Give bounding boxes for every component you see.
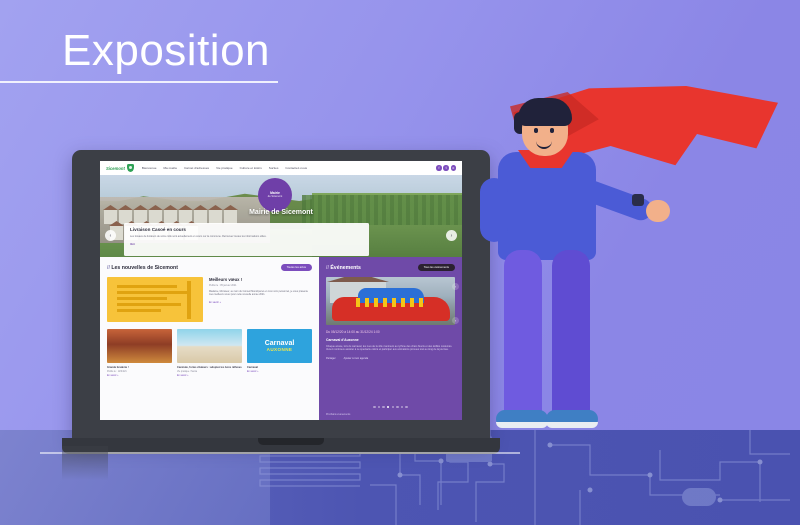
- carousel-dot[interactable]: [373, 406, 375, 408]
- nav-item-bienvenue[interactable]: Bienvenue: [142, 166, 157, 170]
- chevron-right-icon[interactable]: ›: [446, 230, 457, 241]
- laptop-lid: Sicemont Bienvenue Ma mairie Carnet d'ad…: [72, 150, 490, 442]
- hero-heading: Mairie de Sicemont: [100, 209, 462, 216]
- laptop-mockup: Sicemont Bienvenue Ma mairie Carnet d'ad…: [72, 150, 490, 446]
- events-section: // Événements Tous les événements Du 05/…: [319, 257, 462, 420]
- chevron-up-icon[interactable]: ‹: [452, 283, 459, 290]
- hero-card-title: Livraison Casoé en cours: [130, 227, 363, 232]
- list-item[interactable]: Carnaval AUXONNE Carnaval En savoir +: [247, 329, 312, 377]
- event-agenda-link[interactable]: Ajouter à mon agenda: [344, 357, 369, 360]
- all-news-button[interactable]: Toutes les actus: [281, 264, 312, 271]
- news-section-title: // Les nouvelles de Sicemont: [107, 265, 178, 271]
- right-eye: [550, 128, 554, 133]
- news-card-title: Canicule, fortes chaleurs : adoptez les …: [177, 366, 242, 369]
- carnaval-auxonne-poster: Carnaval AUXONNE: [247, 329, 312, 363]
- hero-card-link[interactable]: Voir: [130, 243, 363, 246]
- events-section-title-text: Événements: [330, 265, 361, 271]
- nav-item-ma-mairie[interactable]: Ma mairie: [163, 166, 177, 170]
- right-leg: [552, 250, 590, 418]
- superhero-illustration: [470, 78, 790, 458]
- carousel-dots: [319, 406, 462, 408]
- featured-news-meta: Publié le : 05 janvier 2021: [209, 284, 312, 287]
- left-shoe: [496, 410, 548, 428]
- social-links: f t o: [436, 165, 456, 170]
- plage-photo: [177, 329, 242, 363]
- news-card-list: Grande braderie ! Publié le : 12/04/21 E…: [107, 329, 312, 377]
- featured-news-item[interactable]: Meilleurs vœux ! Publié le : 05 janvier …: [107, 277, 312, 322]
- carousel-dot[interactable]: [396, 406, 398, 408]
- news-card-title: Grande braderie !: [107, 366, 172, 369]
- events-footer-note: Prochains événements: [326, 413, 350, 416]
- facebook-icon[interactable]: f: [436, 165, 441, 170]
- laptop-reflection: [62, 446, 108, 480]
- news-section-header: // Les nouvelles de Sicemont Toutes les …: [107, 264, 312, 271]
- event-links: Partager Ajouter à mon agenda: [326, 357, 455, 360]
- events-section-header: // Événements Tous les événements: [326, 264, 455, 271]
- wristwatch: [632, 194, 644, 206]
- news-card-meta: Vie pratique / Santé: [177, 371, 242, 373]
- events-section-prefix: //: [326, 265, 329, 271]
- carousel-dot[interactable]: [392, 406, 394, 408]
- legs: [504, 250, 592, 432]
- news-section-prefix: //: [107, 265, 110, 271]
- site-header: Sicemont Bienvenue Ma mairie Carnet d'ad…: [100, 161, 462, 175]
- news-card-link[interactable]: En savoir +: [177, 375, 242, 377]
- featured-news-text: Meilleurs vœux ! Publié le : 05 janvier …: [209, 277, 312, 322]
- carnaval-title-text: Carnaval: [265, 340, 295, 347]
- event-date: Du 05/12/20 à 14:00 au 31/12/24 1:00: [326, 330, 455, 334]
- laptop-notch: [258, 438, 324, 445]
- dragon-spikes: [356, 298, 426, 307]
- featured-news-link[interactable]: En savoir +: [209, 301, 312, 304]
- hero-banner: Mairie de Sicemont Mairie de Sicemont Li…: [100, 175, 462, 257]
- shield-icon: [127, 164, 134, 172]
- floor-reflection-line: [40, 452, 520, 454]
- carousel-dot-active[interactable]: [387, 406, 389, 408]
- news-card-title: Carnaval: [247, 366, 312, 369]
- nav-item-culture-loisirs[interactable]: Culture et loisirs: [240, 166, 262, 170]
- right-shoe: [546, 410, 598, 428]
- featured-news-description: Madame, Monsieur, au nom du Conseil Muni…: [209, 290, 312, 297]
- nav-item-vie-pratique[interactable]: Vie pratique: [216, 166, 232, 170]
- event-description: Chaque année, lors du carnaval, les rues…: [326, 345, 455, 352]
- event-title: Carnaval d'Auxonne: [326, 338, 455, 342]
- news-section: // Les nouvelles de Sicemont Toutes les …: [100, 257, 319, 420]
- main-navigation: Bienvenue Ma mairie Carnet d'adresses Vi…: [142, 166, 436, 170]
- left-leg: [504, 250, 542, 418]
- logo-text: Sicemont: [106, 166, 125, 171]
- twitter-icon[interactable]: t: [443, 165, 448, 170]
- carousel-dot[interactable]: [378, 406, 380, 408]
- site-logo[interactable]: Sicemont: [106, 164, 134, 172]
- hair: [518, 98, 572, 126]
- left-eye: [534, 128, 538, 133]
- hero-announcement-card: Livraison Casoé en cours Les travaux de …: [124, 223, 369, 256]
- instagram-icon[interactable]: o: [451, 165, 456, 170]
- list-item[interactable]: Grande braderie ! Publié le : 12/04/21 E…: [107, 329, 172, 377]
- site-main-content: // Les nouvelles de Sicemont Toutes les …: [100, 257, 462, 420]
- carousel-dot[interactable]: [401, 406, 403, 408]
- badge-subtitle: de Sicemont: [268, 195, 282, 199]
- pointing-hand: [646, 200, 670, 222]
- news-card-meta: Publié le : 12/04/21: [107, 371, 172, 373]
- carousel-dot[interactable]: [382, 406, 384, 408]
- nav-item-sorties[interactable]: Sorties: [269, 166, 279, 170]
- title-underline: [0, 81, 278, 83]
- carnaval-city-text: AUXONNE: [267, 347, 293, 352]
- chevron-left-icon[interactable]: ‹: [105, 230, 116, 241]
- mairie-badge: Mairie de Sicemont: [258, 178, 292, 212]
- carousel-dot[interactable]: [405, 406, 407, 408]
- featured-news-title: Meilleurs vœux !: [209, 277, 312, 282]
- all-events-button[interactable]: Tous les événements: [418, 264, 455, 271]
- hero-card-description: Les travaux de livraison de votre colis …: [130, 235, 363, 238]
- website-preview: Sicemont Bienvenue Ma mairie Carnet d'ad…: [100, 161, 462, 420]
- list-item[interactable]: Canicule, fortes chaleurs : adoptez les …: [177, 329, 242, 377]
- nav-item-carnet-adresses[interactable]: Carnet d'adresses: [184, 166, 209, 170]
- page-title: Exposition: [62, 26, 270, 76]
- laptop-screen: Sicemont Bienvenue Ma mairie Carnet d'ad…: [100, 161, 462, 420]
- torso: [498, 152, 596, 260]
- chevron-down-icon[interactable]: ›: [452, 317, 459, 324]
- left-arm: [480, 178, 508, 242]
- meilleurs-voeux-poster: [107, 277, 203, 322]
- news-card-link[interactable]: En savoir +: [247, 371, 312, 373]
- news-card-link[interactable]: En savoir +: [107, 375, 172, 377]
- barbecue-photo: [107, 329, 172, 363]
- event-share-link[interactable]: Partager: [326, 357, 336, 360]
- dragon-carnaval-photo: [326, 277, 455, 325]
- events-section-title: // Événements: [326, 265, 361, 271]
- news-section-title-text: Les nouvelles de Sicemont: [111, 265, 178, 271]
- nav-item-contactez-nous[interactable]: Contactez-nous: [285, 166, 307, 170]
